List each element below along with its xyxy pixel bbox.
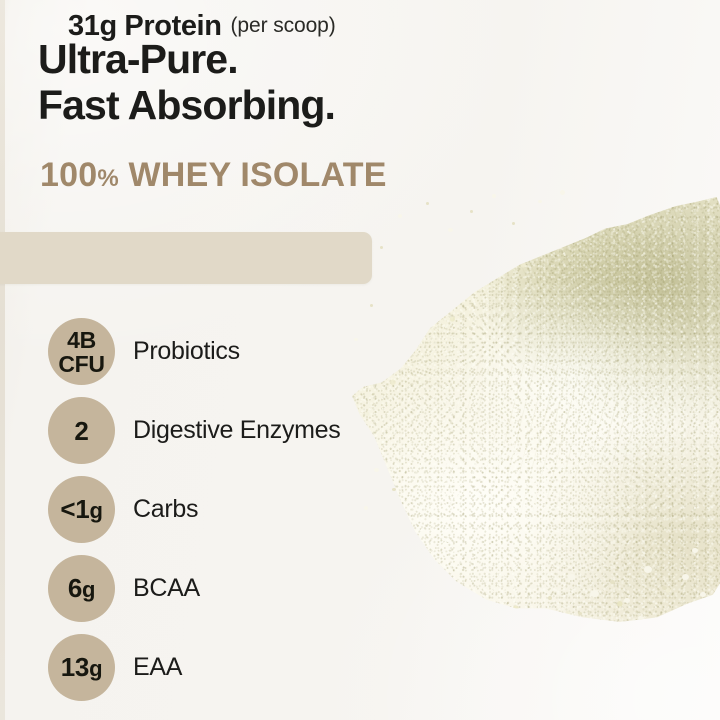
badge-value-line2: CFU: [58, 352, 104, 376]
badge-value: 13g: [61, 654, 102, 682]
badge-unit: g: [89, 656, 102, 681]
nutrition-badge: 13g: [48, 634, 115, 701]
nutrition-label: Carbs: [133, 495, 198, 524]
badge-value: 4B: [67, 328, 96, 352]
nutrition-badge: 4B CFU: [48, 318, 115, 385]
nutrition-label: BCAA: [133, 574, 200, 603]
list-item: 4B CFU Probiotics: [48, 318, 240, 385]
nutrition-badge: 2: [48, 397, 115, 464]
nutrition-label: Probiotics: [133, 337, 240, 366]
badge-unit: g: [82, 577, 95, 602]
nutrition-facts-list: 4B CFU Probiotics 2 Digestive Enzymes <1…: [0, 0, 400, 720]
badge-value: <1g: [60, 496, 102, 524]
badge-value: 2: [74, 418, 88, 444]
nutrition-badge: <1g: [48, 476, 115, 543]
list-item: 6g BCAA: [48, 555, 200, 622]
nutrition-badge: 6g: [48, 555, 115, 622]
badge-value: 6g: [68, 575, 95, 603]
list-item: 13g EAA: [48, 634, 182, 701]
nutrition-label: Digestive Enzymes: [133, 416, 340, 445]
list-item: <1g Carbs: [48, 476, 198, 543]
badge-number: <1: [60, 494, 89, 524]
badge-number: 13: [61, 652, 89, 682]
badge-number: 6: [68, 573, 82, 603]
badge-unit: g: [89, 498, 102, 523]
product-feature-graphic: Ultra-Pure. Fast Absorbing. 100% WHEY IS…: [0, 0, 720, 720]
list-item: 2 Digestive Enzymes: [48, 397, 340, 464]
nutrition-label: EAA: [133, 653, 182, 682]
